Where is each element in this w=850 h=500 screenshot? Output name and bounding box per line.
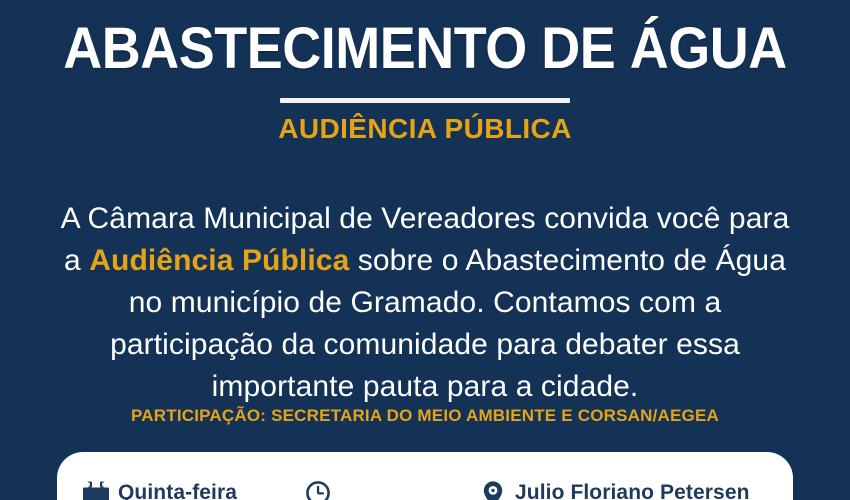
event-details-card: Quinta-feira bbox=[57, 452, 793, 500]
title-block: ABASTECIMENTO DE ÁGUA bbox=[0, 18, 850, 80]
subtitle-block: AUDIÊNCIA PÚBLICA bbox=[0, 112, 850, 146]
event-place-item: Julio Floriano Petersen bbox=[480, 480, 767, 500]
event-place-label: Julio Floriano Petersen bbox=[515, 481, 750, 500]
participation-block: PARTICIPAÇÃO: SECRETARIA DO MEIO AMBIENT… bbox=[0, 405, 850, 427]
page-subtitle: AUDIÊNCIA PÚBLICA bbox=[0, 112, 850, 146]
map-pin-icon bbox=[480, 480, 506, 500]
page-title: ABASTECIMENTO DE ÁGUA bbox=[30, 18, 821, 80]
calendar-icon bbox=[83, 480, 109, 500]
body-highlight: Audiência Pública bbox=[89, 244, 349, 277]
event-details-row: Quinta-feira bbox=[83, 476, 767, 500]
body-paragraph-block: A Câmara Municipal de Vereadores convida… bbox=[55, 168, 795, 438]
event-date-label: Quinta-feira bbox=[118, 481, 237, 500]
body-paragraph: A Câmara Municipal de Vereadores convida… bbox=[55, 198, 795, 408]
participation-text: PARTICIPAÇÃO: SECRETARIA DO MEIO AMBIENT… bbox=[0, 405, 850, 427]
clock-icon bbox=[305, 480, 331, 500]
title-divider bbox=[280, 98, 570, 103]
event-date-item: Quinta-feira bbox=[83, 480, 305, 500]
poster-canvas: ABASTECIMENTO DE ÁGUA AUDIÊNCIA PÚBLICA … bbox=[0, 0, 850, 500]
event-time-item bbox=[305, 480, 480, 500]
